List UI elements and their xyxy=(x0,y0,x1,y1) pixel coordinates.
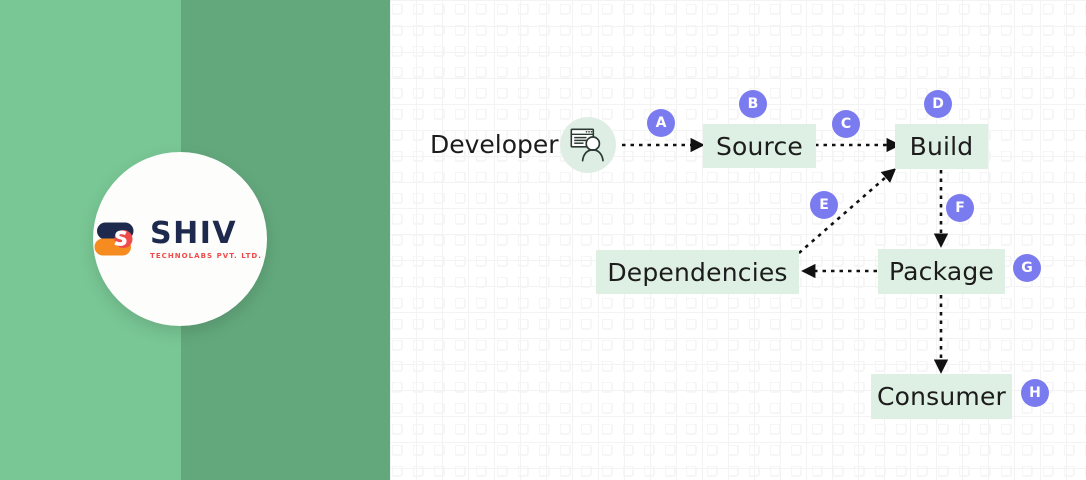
badge-a[interactable]: A xyxy=(647,109,675,137)
brand-panel: SHIV TECHNOLABS PVT. LTD. xyxy=(0,0,390,480)
developer-icon-circle xyxy=(560,117,616,173)
logo-tagline: TECHNOLABS PVT. LTD. xyxy=(150,252,262,260)
badge-f[interactable]: F xyxy=(946,194,974,222)
badge-d[interactable]: D xyxy=(924,90,952,118)
developer-document-person-icon xyxy=(570,128,606,162)
node-consumer[interactable]: Consumer xyxy=(871,374,1012,419)
node-source[interactable]: Source xyxy=(703,124,816,168)
node-dependencies[interactable]: Dependencies xyxy=(596,250,799,294)
screenshot-root: SHIV TECHNOLABS PVT. LTD. xyxy=(0,0,1086,480)
shiv-capsule-icon xyxy=(94,221,144,257)
node-developer-label: Developer xyxy=(430,130,559,159)
badge-c[interactable]: C xyxy=(832,110,860,138)
node-build[interactable]: Build xyxy=(895,124,988,169)
node-package[interactable]: Package xyxy=(878,249,1005,294)
badge-b[interactable]: B xyxy=(739,90,767,118)
shiv-technolabs-logo: SHIV TECHNOLABS PVT. LTD. xyxy=(94,219,262,260)
badge-g[interactable]: G xyxy=(1013,254,1041,282)
logo-text-block: SHIV TECHNOLABS PVT. LTD. xyxy=(150,219,262,260)
badge-h[interactable]: H xyxy=(1021,379,1049,407)
diagram-canvas: Developer Source Build xyxy=(390,0,1086,480)
logo-wordmark: SHIV xyxy=(150,219,237,249)
logo-badge: SHIV TECHNOLABS PVT. LTD. xyxy=(93,152,267,326)
badge-e[interactable]: E xyxy=(810,191,838,219)
